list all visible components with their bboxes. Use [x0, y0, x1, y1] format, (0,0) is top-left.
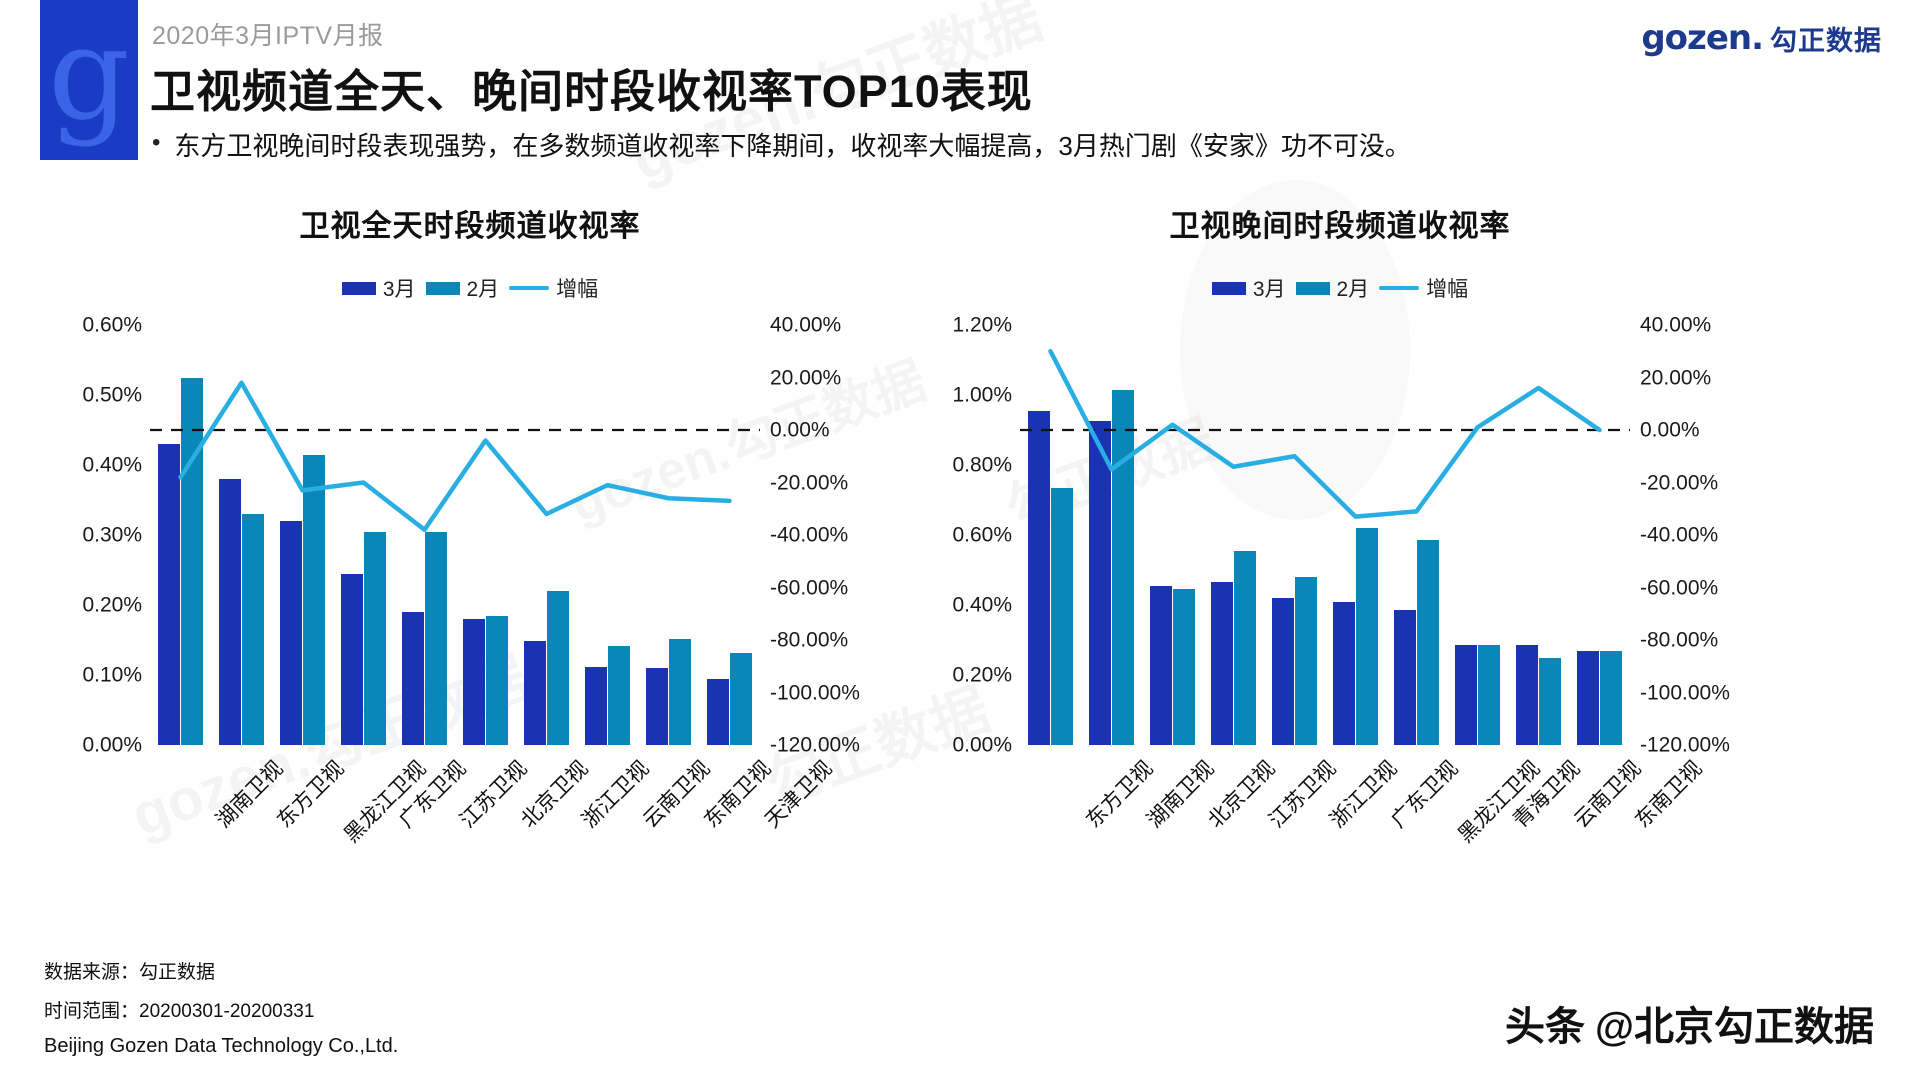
- right-axis-tick: -60.00%: [770, 577, 848, 598]
- right-axis-tick: 20.00%: [770, 367, 841, 388]
- right-axis-tick: 20.00%: [1640, 367, 1711, 388]
- bar-series2[interactable]: [1356, 528, 1378, 745]
- bar-series1[interactable]: [280, 521, 302, 745]
- bullet-row: • 东方卫视晚间时段表现强势，在多数频道收视率下降期间，收视率大幅提高，3月热门…: [152, 130, 1852, 164]
- bar-group[interactable]: [1264, 325, 1325, 745]
- left-axis: 0.60%0.50%0.40%0.30%0.20%0.10%0.00%: [30, 325, 142, 745]
- left-axis-tick: 0.50%: [82, 385, 142, 406]
- legend-item-series3[interactable]: 增幅: [1379, 273, 1468, 303]
- bar-series1[interactable]: [463, 619, 485, 745]
- plot-wrap: 0.60%0.50%0.40%0.30%0.20%0.10%0.00%40.00…: [30, 325, 910, 745]
- footer: 数据来源：勾正数据 时间范围：20200301-20200331 Beijing…: [44, 957, 398, 1058]
- left-axis-tick: 0.10%: [82, 665, 142, 686]
- x-axis-label: 云南卫视: [1566, 753, 1647, 834]
- bar-series2[interactable]: [242, 514, 264, 745]
- legend-label-series3: 增幅: [556, 273, 598, 303]
- x-axis-label: 江苏卫视: [452, 753, 533, 834]
- bar-group[interactable]: [577, 325, 638, 745]
- bar-series2[interactable]: [547, 591, 569, 745]
- bar-group[interactable]: [211, 325, 272, 745]
- x-axis-label: 云南卫视: [635, 753, 716, 834]
- legend-item-series3[interactable]: 增幅: [509, 273, 598, 303]
- footer-company: Beijing Gozen Data Technology Co.,Ltd.: [44, 1035, 398, 1058]
- left-axis-tick: 0.20%: [82, 595, 142, 616]
- bar-series1[interactable]: [1333, 602, 1355, 746]
- right-axis-tick: -80.00%: [770, 630, 848, 651]
- bar-series1[interactable]: [524, 641, 546, 745]
- bar-series1[interactable]: [1089, 421, 1111, 745]
- bullet-text: 东方卫视晚间时段表现强势，在多数频道收视率下降期间，收视率大幅提高，3月热门剧《…: [174, 130, 1410, 164]
- left-axis-tick: 0.40%: [952, 595, 1012, 616]
- legend-swatch-series2: [1296, 282, 1330, 295]
- bar-group[interactable]: [638, 325, 699, 745]
- logo-block: g: [40, 0, 138, 160]
- x-axis-label: 东方卫视: [1078, 753, 1159, 834]
- bar-series2[interactable]: [1112, 390, 1134, 745]
- left-axis-tick: 0.80%: [952, 455, 1012, 476]
- bar-series2[interactable]: [608, 646, 630, 745]
- bar-series1[interactable]: [1577, 651, 1599, 746]
- left-axis-tick: 0.00%: [82, 735, 142, 756]
- bar-group[interactable]: [1020, 325, 1081, 745]
- bar-group[interactable]: [516, 325, 577, 745]
- legend-swatch-series2: [426, 282, 460, 295]
- right-axis-tick: -20.00%: [770, 472, 848, 493]
- bar-series2[interactable]: [1539, 658, 1561, 746]
- chart-allday: 卫视全天时段频道收视率3月2月增幅0.60%0.50%0.40%0.30%0.2…: [30, 195, 910, 895]
- gozen-wordmark: gozen.: [1641, 18, 1763, 58]
- legend-item-series2[interactable]: 2月: [426, 273, 500, 303]
- brand-logo: gozen. 勾正数据: [1641, 18, 1882, 58]
- right-axis-tick: -120.00%: [770, 735, 860, 756]
- x-axis-labels: 东方卫视湖南卫视北京卫视江苏卫视浙江卫视广东卫视黑龙江卫视青海卫视云南卫视东南卫…: [1020, 749, 1630, 889]
- right-axis-tick: -20.00%: [1640, 472, 1718, 493]
- left-axis: 1.20%1.00%0.80%0.60%0.40%0.20%0.00%: [900, 325, 1012, 745]
- legend-swatch-series1: [1212, 282, 1246, 295]
- bar-group[interactable]: [1081, 325, 1142, 745]
- bar-series2[interactable]: [669, 639, 691, 745]
- bar-group[interactable]: [272, 325, 333, 745]
- bar-group[interactable]: [1325, 325, 1386, 745]
- bar-series1[interactable]: [1211, 582, 1233, 745]
- right-axis-tick: -40.00%: [770, 525, 848, 546]
- bars-layer: [1020, 325, 1630, 745]
- legend-label-series2: 2月: [467, 273, 500, 303]
- bar-series1[interactable]: [707, 679, 729, 746]
- bar-series1[interactable]: [1150, 586, 1172, 745]
- legend-swatch-series3: [1379, 286, 1419, 290]
- page-title: 卫视频道全天、晚间时段收视率TOP10表现: [150, 55, 1033, 120]
- bar-group[interactable]: [1447, 325, 1508, 745]
- bar-series1[interactable]: [1272, 598, 1294, 745]
- right-axis: 40.00%20.00%0.00%-20.00%-40.00%-60.00%-8…: [1640, 325, 1780, 745]
- toutiao-logo: 头条: [1505, 994, 1585, 1052]
- right-axis-tick: -60.00%: [1640, 577, 1718, 598]
- x-axis-label: 天津卫视: [757, 753, 838, 834]
- x-axis-labels: 湖南卫视东方卫视黑龙江卫视广东卫视江苏卫视北京卫视浙江卫视云南卫视东南卫视天津卫…: [150, 749, 760, 889]
- legend-label-series2: 2月: [1337, 273, 1370, 303]
- bar-series2[interactable]: [425, 532, 447, 746]
- bars-layer: [150, 325, 760, 745]
- bar-group[interactable]: [1508, 325, 1569, 745]
- legend-item-series2[interactable]: 2月: [1296, 273, 1370, 303]
- chart-title: 卫视全天时段频道收视率: [30, 201, 910, 245]
- gozen-cn-name: 勾正数据: [1770, 19, 1882, 58]
- x-axis-label: 北京卫视: [513, 753, 594, 834]
- bar-series2[interactable]: [1417, 540, 1439, 745]
- bar-group[interactable]: [455, 325, 516, 745]
- right-axis-tick: 40.00%: [770, 315, 841, 336]
- x-axis-label: 广东卫视: [1383, 753, 1464, 834]
- bar-group[interactable]: [1142, 325, 1203, 745]
- left-axis-tick: 1.00%: [952, 385, 1012, 406]
- bar-series1[interactable]: [646, 668, 668, 745]
- bar-group[interactable]: [333, 325, 394, 745]
- bar-series2[interactable]: [1600, 651, 1622, 746]
- left-axis-tick: 0.40%: [82, 455, 142, 476]
- bar-series2[interactable]: [303, 455, 325, 746]
- bar-group[interactable]: [1203, 325, 1264, 745]
- plot-area: [150, 325, 760, 745]
- right-axis-tick: 0.00%: [770, 420, 830, 441]
- bullet-dot-icon: •: [152, 130, 160, 156]
- bar-series1[interactable]: [585, 667, 607, 745]
- toutiao-account-name: @北京勾正数据: [1595, 994, 1874, 1052]
- x-axis-label: 江苏卫视: [1261, 753, 1342, 834]
- legend-item-series1[interactable]: 3月: [342, 273, 416, 303]
- bar-series1[interactable]: [158, 444, 180, 745]
- bar-series1[interactable]: [341, 574, 363, 746]
- x-axis-label: 东南卫视: [1627, 753, 1708, 834]
- legend-swatch-series1: [342, 282, 376, 295]
- logo-g-letter: g: [48, 11, 130, 139]
- right-axis-tick: -120.00%: [1640, 735, 1730, 756]
- chart-legend: 3月2月增幅: [30, 273, 910, 303]
- bar-series2[interactable]: [486, 616, 508, 746]
- bar-series2[interactable]: [1234, 551, 1256, 745]
- bar-series2[interactable]: [1173, 589, 1195, 745]
- left-axis-tick: 0.60%: [82, 315, 142, 336]
- legend-swatch-series3: [509, 286, 549, 290]
- chart-legend: 3月2月增幅: [900, 273, 1780, 303]
- footer-source: 数据来源：勾正数据: [44, 957, 398, 984]
- x-axis-label: 浙江卫视: [1322, 753, 1403, 834]
- bar-series2[interactable]: [1295, 577, 1317, 745]
- x-axis-label: 湖南卫视: [208, 753, 289, 834]
- legend-label-series1: 3月: [383, 273, 416, 303]
- left-axis-tick: 0.30%: [82, 525, 142, 546]
- chart-title: 卫视晚间时段频道收视率: [900, 201, 1780, 245]
- x-axis-label: 湖南卫视: [1139, 753, 1220, 834]
- left-axis-tick: 0.60%: [952, 525, 1012, 546]
- chart-primetime: 卫视晚间时段频道收视率3月2月增幅1.20%1.00%0.80%0.60%0.4…: [900, 195, 1780, 895]
- left-axis-tick: 1.20%: [952, 315, 1012, 336]
- bar-group[interactable]: [699, 325, 760, 745]
- left-axis-tick: 0.20%: [952, 665, 1012, 686]
- right-axis-tick: 40.00%: [1640, 315, 1711, 336]
- right-axis-tick: -100.00%: [1640, 682, 1730, 703]
- legend-item-series1[interactable]: 3月: [1212, 273, 1286, 303]
- bar-series1[interactable]: [1516, 645, 1538, 745]
- bar-series2[interactable]: [1478, 645, 1500, 745]
- slide-root: gozen.勾正数据 勾正数据 gozen.勾正数据 勾正数据 gozen.勾正…: [0, 0, 1920, 1080]
- toutiao-credit: 头条 @北京勾正数据: [1505, 994, 1874, 1052]
- bar-group[interactable]: [150, 325, 211, 745]
- x-axis-label: 北京卫视: [1200, 753, 1281, 834]
- right-axis-tick: 0.00%: [1640, 420, 1700, 441]
- report-kicker: 2020年3月IPTV月报: [152, 16, 384, 52]
- right-axis-tick: -80.00%: [1640, 630, 1718, 651]
- bar-series1[interactable]: [1455, 645, 1477, 745]
- right-axis-tick: -40.00%: [1640, 525, 1718, 546]
- bar-group[interactable]: [1569, 325, 1630, 745]
- plot-wrap: 1.20%1.00%0.80%0.60%0.40%0.20%0.00%40.00…: [900, 325, 1780, 745]
- bar-series2[interactable]: [1051, 488, 1073, 745]
- x-axis-label: 浙江卫视: [574, 753, 655, 834]
- right-axis-tick: -100.00%: [770, 682, 860, 703]
- plot-area: [1020, 325, 1630, 745]
- footer-time-range: 时间范围：20200301-20200331: [44, 996, 398, 1023]
- bar-series2[interactable]: [364, 532, 386, 746]
- right-axis: 40.00%20.00%0.00%-20.00%-40.00%-60.00%-8…: [770, 325, 910, 745]
- left-axis-tick: 0.00%: [952, 735, 1012, 756]
- bar-series1[interactable]: [1394, 610, 1416, 745]
- bar-series1[interactable]: [1028, 411, 1050, 745]
- bar-series2[interactable]: [181, 378, 203, 746]
- bar-group[interactable]: [1386, 325, 1447, 745]
- legend-label-series1: 3月: [1253, 273, 1286, 303]
- bar-series1[interactable]: [402, 612, 424, 745]
- x-axis-label: 东方卫视: [269, 753, 350, 834]
- bar-group[interactable]: [394, 325, 455, 745]
- bar-series1[interactable]: [219, 479, 241, 745]
- legend-label-series3: 增幅: [1426, 273, 1468, 303]
- x-axis-label: 东南卫视: [696, 753, 777, 834]
- bar-series2[interactable]: [730, 653, 752, 745]
